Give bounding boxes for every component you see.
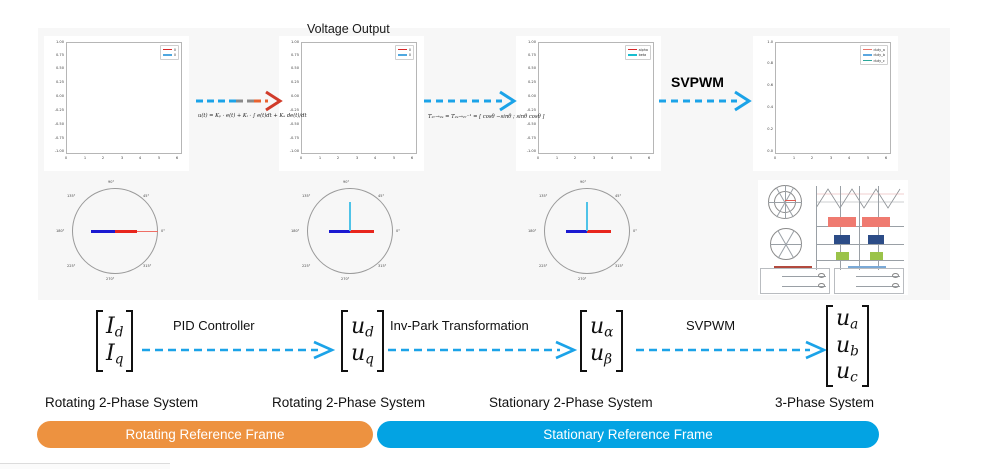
x-tick-label: 5 [863,156,873,160]
legend-label: 0 [174,48,176,52]
polar-angle-label-45: 45° [143,194,149,198]
svpwm-schematic-thumbnail [758,180,908,295]
banner-label: Stationary Reference Frame [543,427,713,442]
y-tick-label: 0.25 [516,80,536,84]
u-beta-vector [587,230,611,233]
y-tick-label: 0.25 [279,80,299,84]
x-tick-label: 6 [644,156,654,160]
y-tick-label: -0.75 [516,136,536,140]
x-tick-label: 3 [352,156,362,160]
matrix-cell: ud [351,315,374,340]
system-label-3-phase: 3-Phase System [775,395,874,410]
legend-alpha-beta: alpha beta [625,45,651,60]
d-axis-vector [91,230,115,233]
y-tick-label: -0.75 [44,136,64,140]
y-tick-label: 0.25 [44,80,64,84]
y-tick-label: 1.00 [516,40,536,44]
legend-swatch-icon [163,49,172,51]
transition-label-inv-park: Inv-Park Transformation [390,318,529,333]
motor-winding-icon [892,273,899,278]
polar-plot-dq-current: 90° 45° 0° 315° 270° 225° 180° 135° [58,180,172,294]
polar-angle-label-270: 270° [341,277,349,281]
polar-angle-label-0: 0° [161,229,165,233]
formula-pid: u(t) = Kₚ · e(t) + Kᵢ · ∫ e(t)dt + Kₑ de… [198,113,307,119]
arrow-pid [196,90,282,112]
plot-card-dq-current: 0 0 1.00 0.75 0.50 0.25 0.00 -0.25 -0.50… [44,36,189,171]
matrix-cell-subscript: q [365,351,374,367]
matrix-cell: uc [836,360,859,385]
plot-axes-dq-current: 0 0 [66,42,182,154]
polar-angle-label-315: 315° [143,264,151,268]
x-tick-label: 2 [333,156,343,160]
flow-arrow-pid [142,340,334,360]
window-bottom-strip [0,463,170,469]
legend-swatch-icon [863,54,872,56]
resultant-vector [586,202,588,231]
inverter-schematic-left [760,268,830,294]
plot-card-alpha-beta: alpha beta 1.00 0.75 0.50 0.25 0.00 -0.2… [516,36,661,171]
x-tick-label: 0 [61,156,71,160]
x-tick-label: 6 [407,156,417,160]
matrix-cell: Id [106,315,123,340]
matrix-cell: ub [836,334,859,359]
polar-angle-label-90: 90° [580,180,586,184]
y-tick-label: 0.00 [516,94,536,98]
polar-angle-label-0: 0° [633,229,637,233]
timing-guide [816,186,817,270]
y-tick-label: 1.00 [44,40,64,44]
motor-winding-icon [818,273,825,278]
polar-angle-label-270: 270° [578,277,586,281]
legend-label: duty_c [874,59,885,63]
y-tick-label: -1.00 [516,149,536,153]
matrix-cell: uβ [590,342,613,367]
banner-stationary-reference-frame[interactable]: Stationary Reference Frame [377,421,879,448]
vector-tail-line [137,231,158,232]
x-tick-label: 0 [296,156,306,160]
polar-angle-label-90: 90° [108,180,114,184]
y-tick-label: 0.0 [755,149,773,153]
x-tick-label: 1 [80,156,90,160]
bracket-left [826,305,833,387]
legend-swatch-icon [398,49,407,51]
x-tick-label: 1 [552,156,562,160]
bracket-left [341,310,348,372]
legend-swatch-icon [628,49,637,51]
flow-arrow-inv-park [388,340,576,360]
y-tick-label: 0.75 [279,53,299,57]
matrix-cell-subscript: q [115,351,124,367]
arrow-svpwm-top [659,90,751,112]
y-tick-label: 0.50 [279,66,299,70]
y-tick-label: -0.25 [279,108,299,112]
plot-axes-duty-cycle: duty_a duty_b duty_c [775,42,891,154]
matrix-cell: uq [351,342,374,367]
matrix-cell-subscript: d [115,325,124,341]
polar-angle-label-225: 225° [302,264,310,268]
formula-inv-park: T₂ᵣ→₂ₛ = T₂ₛ→₂ᵣ⁻¹ = [ cosθ −sinθ ; sinθ … [428,114,544,120]
dc-bus-bar [774,266,812,268]
legend-label: 0 [409,53,411,57]
y-tick-label: -1.00 [44,149,64,153]
pwm-pulse-phase-a [862,217,890,227]
matrix-rows: ua ub uc [833,306,862,386]
polar-angle-label-45: 45° [615,194,621,198]
matrix-dq-current: Id Iq [96,310,133,372]
u-alpha-vector [566,230,587,233]
pwm-pulse-phase-a [828,217,856,227]
legend-item: alpha [628,48,648,52]
polar-angle-label-225: 225° [67,264,75,268]
x-tick-label: 0 [533,156,543,160]
legend-label: duty_a [874,48,885,52]
polar-angle-label-315: 315° [378,264,386,268]
y-tick-label: 0.00 [279,94,299,98]
bracket-right [862,305,869,387]
matrix-dq-voltage: ud uq [341,310,384,372]
legend-duty-cycle: duty_a duty_b duty_c [860,45,889,65]
y-tick-label: 0.75 [44,53,64,57]
legend-swatch-icon [863,60,872,62]
dc-bus-bar [848,266,886,268]
legend-item: 0 [163,53,176,57]
timing-guide [859,186,860,270]
legend-item: 0 [398,48,411,52]
legend-swatch-icon [628,54,637,56]
svpwm-top-label: SVPWM [671,74,724,90]
x-tick-label: 6 [172,156,182,160]
legend-label: beta [639,53,647,57]
y-tick-label: -0.50 [279,122,299,126]
x-tick-label: 0 [770,156,780,160]
pwm-baseline-c [816,260,904,261]
x-tick-label: 2 [570,156,580,160]
polar-angle-label-180: 180° [291,229,299,233]
y-tick-label: 0.8 [755,61,773,65]
plot-card-voltage-output: Voltage Output 0 0 1.00 0.75 0.50 0.25 0… [279,36,424,171]
polar-angle-label-225: 225° [539,264,547,268]
bracket-right [616,310,623,372]
system-label-rotating-2-phase-2: Rotating 2-Phase System [272,395,425,410]
ud-vector [329,230,350,233]
legend-item: 0 [398,53,411,57]
legend-item: duty_c [863,59,886,63]
q-axis-vector [115,230,137,233]
x-tick-label: 2 [98,156,108,160]
inverter-schematic-right [834,268,904,294]
pwm-pulse-phase-b [868,235,884,244]
matrix-cell: uα [590,315,613,340]
carrier-triangle-wave [816,186,904,212]
polar-angle-label-0: 0° [396,229,400,233]
diagram-canvas: 0 0 1.00 0.75 0.50 0.25 0.00 -0.25 -0.50… [0,0,1000,469]
y-tick-label: -0.25 [516,108,536,112]
reference-vector [785,200,796,201]
system-label-rotating-2-phase-1: Rotating 2-Phase System [45,395,198,410]
y-tick-label: -0.75 [279,136,299,140]
bracket-left [96,310,103,372]
y-tick-label: -1.00 [279,149,299,153]
y-tick-label: 0.6 [755,83,773,87]
polar-angle-label-135: 135° [302,194,310,198]
plot-card-duty-cycle: duty_a duty_b duty_c 1.0 0.8 0.6 0.4 0.2… [753,36,898,171]
legend-item: beta [628,53,648,57]
x-tick-label: 1 [315,156,325,160]
polar-angle-label-135: 135° [67,194,75,198]
x-tick-label: 5 [154,156,164,160]
plot-title-voltage-output: Voltage Output [307,22,390,36]
matrix-cell-subscript: β [604,351,612,367]
polar-angle-label-45: 45° [378,194,384,198]
matrix-rows: uα uβ [587,314,616,367]
banner-label: Rotating Reference Frame [125,427,284,442]
matrix-cell: ua [836,307,859,332]
legend-label: alpha [639,48,648,52]
legend-label: duty_b [874,53,886,57]
resultant-vector [349,202,351,231]
matrix-cell: Iq [106,342,123,367]
y-tick-label: 0.75 [516,53,536,57]
y-tick-label: -0.50 [44,122,64,126]
x-tick-label: 5 [626,156,636,160]
matrix-cell-subscript: c [850,370,858,386]
y-tick-label: 0.00 [44,94,64,98]
legend-swatch-icon [163,54,172,56]
pwm-pulse-phase-b [834,235,850,244]
matrix-cell-subscript: a [850,316,858,332]
transition-label-svpwm: SVPWM [686,318,735,333]
x-tick-label: 4 [135,156,145,160]
y-tick-label: -0.50 [516,122,536,126]
y-tick-label: -0.25 [44,108,64,112]
legend-swatch-icon [863,49,872,51]
y-tick-label: 0.4 [755,105,773,109]
x-tick-label: 4 [370,156,380,160]
legend-label: 0 [174,53,176,57]
polar-plot-ud-uq: 90° 45° 0° 315° 270° 225° 180° 135° [293,180,407,294]
motor-winding-icon [892,283,899,288]
y-tick-label: 0.50 [516,66,536,70]
matrix-abc-voltage: ua ub uc [826,305,869,387]
polar-angle-label-180: 180° [56,229,64,233]
bracket-right [126,310,133,372]
plot-axes-alpha-beta: alpha beta [538,42,654,154]
legend-label: 0 [409,48,411,52]
polar-angle-label-180: 180° [528,229,536,233]
matrix-cell-subscript: d [365,325,374,341]
pwm-pulse-phase-c [870,252,883,260]
uq-vector [350,230,374,233]
x-tick-label: 6 [881,156,891,160]
banner-rotating-reference-frame[interactable]: Rotating Reference Frame [37,421,373,448]
polar-plot-alpha-beta: 90° 45° 0° 315° 270° 225° 180° 135° [530,180,644,294]
matrix-cell-subscript: b [850,343,859,359]
transition-label-pid-controller: PID Controller [173,318,255,333]
legend-item: duty_b [863,53,886,57]
polar-angle-label-315: 315° [615,264,623,268]
x-tick-label: 5 [389,156,399,160]
bracket-right [377,310,384,372]
y-tick-label: 1.0 [755,40,773,44]
x-tick-label: 4 [844,156,854,160]
y-tick-label: 1.00 [279,40,299,44]
y-tick-label: 0.2 [755,127,773,131]
bracket-left [580,310,587,372]
arrow-inv-park [424,90,516,112]
pwm-pulse-phase-c [836,252,849,260]
x-tick-label: 3 [826,156,836,160]
legend-voltage-output: 0 0 [395,45,414,60]
polar-angle-label-90: 90° [343,180,349,184]
matrix-rows: ud uq [348,314,377,367]
legend-item: 0 [163,48,176,52]
legend-swatch-icon [398,54,407,56]
plot-axes-voltage-output: 0 0 [301,42,417,154]
legend-dq-current: 0 0 [160,45,179,60]
matrix-rows: Id Iq [103,314,126,367]
x-tick-label: 4 [607,156,617,160]
motor-winding-icon [818,283,825,288]
x-tick-label: 2 [807,156,817,160]
matrix-alpha-beta-voltage: uα uβ [580,310,623,372]
polar-angle-label-135: 135° [539,194,547,198]
flow-arrow-svpwm [636,340,826,360]
pwm-baseline-b [816,244,904,245]
legend-item: duty_a [863,48,886,52]
y-tick-label: 0.50 [44,66,64,70]
x-tick-label: 3 [589,156,599,160]
x-tick-label: 3 [117,156,127,160]
matrix-cell-subscript: α [604,325,613,341]
x-tick-label: 1 [789,156,799,160]
system-label-stationary-2-phase: Stationary 2-Phase System [489,395,653,410]
polar-angle-label-270: 270° [106,277,114,281]
